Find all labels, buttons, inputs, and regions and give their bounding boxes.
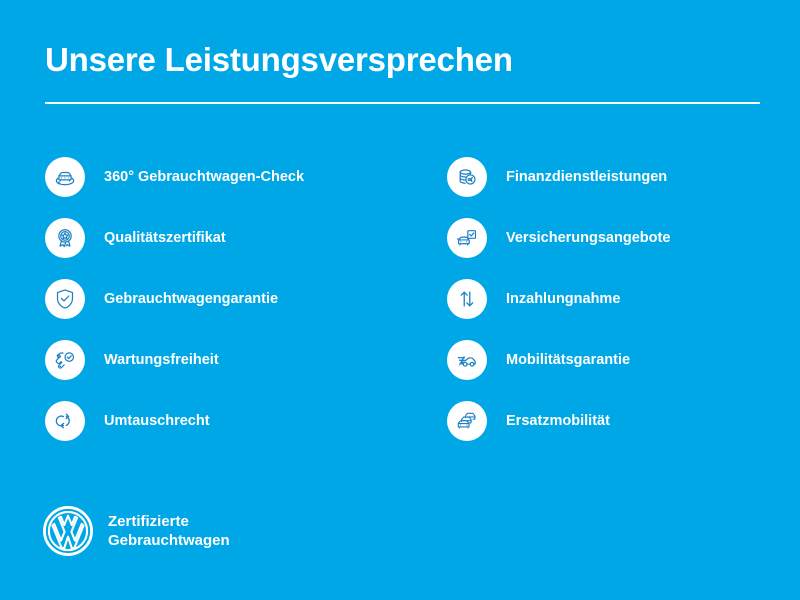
- two-cars-icon: [447, 401, 487, 441]
- benefit-label: Finanzdienstleistungen: [506, 168, 667, 186]
- benefit-item-gebrauchtwagen-check: 360° Gebrauchtwagen-Check: [45, 157, 390, 197]
- benefit-item-finanzdienstleistungen: Finanzdienstleistungen: [447, 157, 792, 197]
- benefit-item-inzahlungnahme: Inzahlungnahme: [447, 279, 792, 319]
- brand-text-line-2: Gebrauchtwagen: [108, 531, 230, 550]
- car-document-check-icon: [447, 218, 487, 258]
- car-motion-icon: [447, 340, 487, 380]
- benefit-label: Ersatzmobilität: [506, 412, 610, 430]
- benefit-label: 360° Gebrauchtwagen-Check: [104, 168, 304, 186]
- benefits-column-left: 360° Gebrauchtwagen-Check Qualitätszerti…: [45, 157, 390, 441]
- benefit-label: Mobilitätsgarantie: [506, 351, 630, 369]
- benefit-label: Wartungsfreiheit: [104, 351, 219, 369]
- benefit-item-mobilitaetsgarantie: Mobilitätsgarantie: [447, 340, 792, 380]
- slide-root: Unsere Leistungsversprechen 360° Gebrauc…: [0, 0, 800, 600]
- benefit-item-wartungsfreiheit: Wartungsfreiheit: [45, 340, 390, 380]
- brand-text: Zertifizierte Gebrauchtwagen: [108, 512, 230, 550]
- benefit-label: Qualitätszertifikat: [104, 229, 226, 247]
- benefit-item-versicherungsangebote: Versicherungsangebote: [447, 218, 792, 258]
- benefits-column-right: Finanzdienstleistungen Versicherungsange…: [447, 157, 792, 441]
- brand-text-line-1: Zertifizierte: [108, 512, 230, 531]
- coins-euro-icon: [447, 157, 487, 197]
- header: Unsere Leistungsversprechen: [45, 40, 760, 80]
- benefit-item-gebrauchtwagengarantie: Gebrauchtwagengarantie: [45, 279, 390, 319]
- benefit-item-ersatzmobilitaet: Ersatzmobilität: [447, 401, 792, 441]
- benefit-item-qualitaetszertifikat: Qualitätszertifikat: [45, 218, 390, 258]
- wrench-check-icon: [45, 340, 85, 380]
- benefit-label: Inzahlungnahme: [506, 290, 620, 308]
- benefit-item-umtauschrecht: Umtauschrecht: [45, 401, 390, 441]
- exchange-arrows-icon: [45, 401, 85, 441]
- benefit-label: Gebrauchtwagengarantie: [104, 290, 278, 308]
- title-divider: [45, 102, 760, 104]
- award-rosette-icon: [45, 218, 85, 258]
- brand-footer: Zertifizierte Gebrauchtwagen: [42, 505, 230, 557]
- benefit-label: Umtauschrecht: [104, 412, 210, 430]
- benefit-label: Versicherungsangebote: [506, 229, 670, 247]
- car-360-check-icon: [45, 157, 85, 197]
- shield-check-icon: [45, 279, 85, 319]
- up-down-arrows-icon: [447, 279, 487, 319]
- page-title: Unsere Leistungsversprechen: [45, 40, 760, 80]
- volkswagen-logo: [42, 505, 94, 557]
